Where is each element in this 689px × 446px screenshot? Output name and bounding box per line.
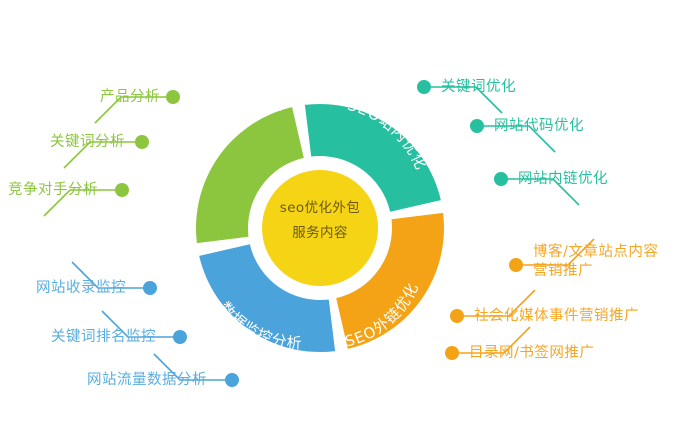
leaf-label-offsite-1[interactable]: 博客/文章站点内容营销推广	[533, 243, 658, 281]
leaf-label-text: 目录网/书签网推广	[469, 344, 594, 363]
connector-dot	[135, 135, 149, 149]
leaf-label-text: 网站内链优化	[518, 170, 608, 189]
leaf-label-text: 关键词排名监控	[51, 328, 156, 347]
leaf-label-text-line2: 营销推广	[533, 262, 658, 281]
connector-dot	[450, 309, 464, 323]
connector-dot	[225, 373, 239, 387]
connector-dot	[417, 80, 431, 94]
center-caption-line1: seo优化外包	[262, 196, 378, 221]
leaf-label-text: 网站流量数据分析	[87, 371, 207, 390]
connector-dot	[166, 90, 180, 104]
connector-dot	[173, 330, 187, 344]
leaf-label-text: 关键词分析	[50, 133, 125, 152]
leaf-label-planning-2[interactable]: 关键词分析	[50, 133, 125, 152]
connector-dot	[143, 281, 157, 295]
center-caption: seo优化外包 服务内容	[262, 196, 378, 246]
leaf-label-text: 竞争对手分析	[8, 181, 98, 200]
leaf-label-onsite-1[interactable]: 关键词优化	[441, 78, 516, 97]
leaf-label-monitoring-1[interactable]: 网站收录监控	[36, 279, 126, 298]
leaf-label-monitoring-3[interactable]: 网站流量数据分析	[87, 371, 207, 390]
leaf-label-offsite-3[interactable]: 目录网/书签网推广	[469, 344, 594, 363]
seo-service-diagram: 策划分析 SEO站内优化 SEO外链优化 数据监控分析 seo优化外包 服务内容…	[0, 0, 689, 446]
leaf-label-text: 社会化媒体事件营销推广	[474, 307, 639, 326]
connector-dot	[470, 119, 484, 133]
leaf-label-text: 博客/文章站点内容	[533, 243, 658, 262]
connector-dot	[115, 183, 129, 197]
leaf-label-planning-3[interactable]: 竞争对手分析	[8, 181, 98, 200]
connector-dot	[445, 346, 459, 360]
leaf-label-text: 产品分析	[100, 88, 160, 107]
center-caption-line2: 服务内容	[262, 221, 378, 246]
leaf-label-onsite-3[interactable]: 网站内链优化	[518, 170, 608, 189]
leaf-label-offsite-2[interactable]: 社会化媒体事件营销推广	[474, 307, 639, 326]
connector-dot	[494, 172, 508, 186]
leaf-label-text: 网站收录监控	[36, 279, 126, 298]
leaf-label-onsite-2[interactable]: 网站代码优化	[494, 117, 584, 136]
leaf-label-monitoring-2[interactable]: 关键词排名监控	[51, 328, 156, 347]
leaf-label-text: 网站代码优化	[494, 117, 584, 136]
leaf-label-text: 关键词优化	[441, 78, 516, 97]
connector-dot	[509, 258, 523, 272]
leaf-label-planning-1[interactable]: 产品分析	[100, 88, 160, 107]
